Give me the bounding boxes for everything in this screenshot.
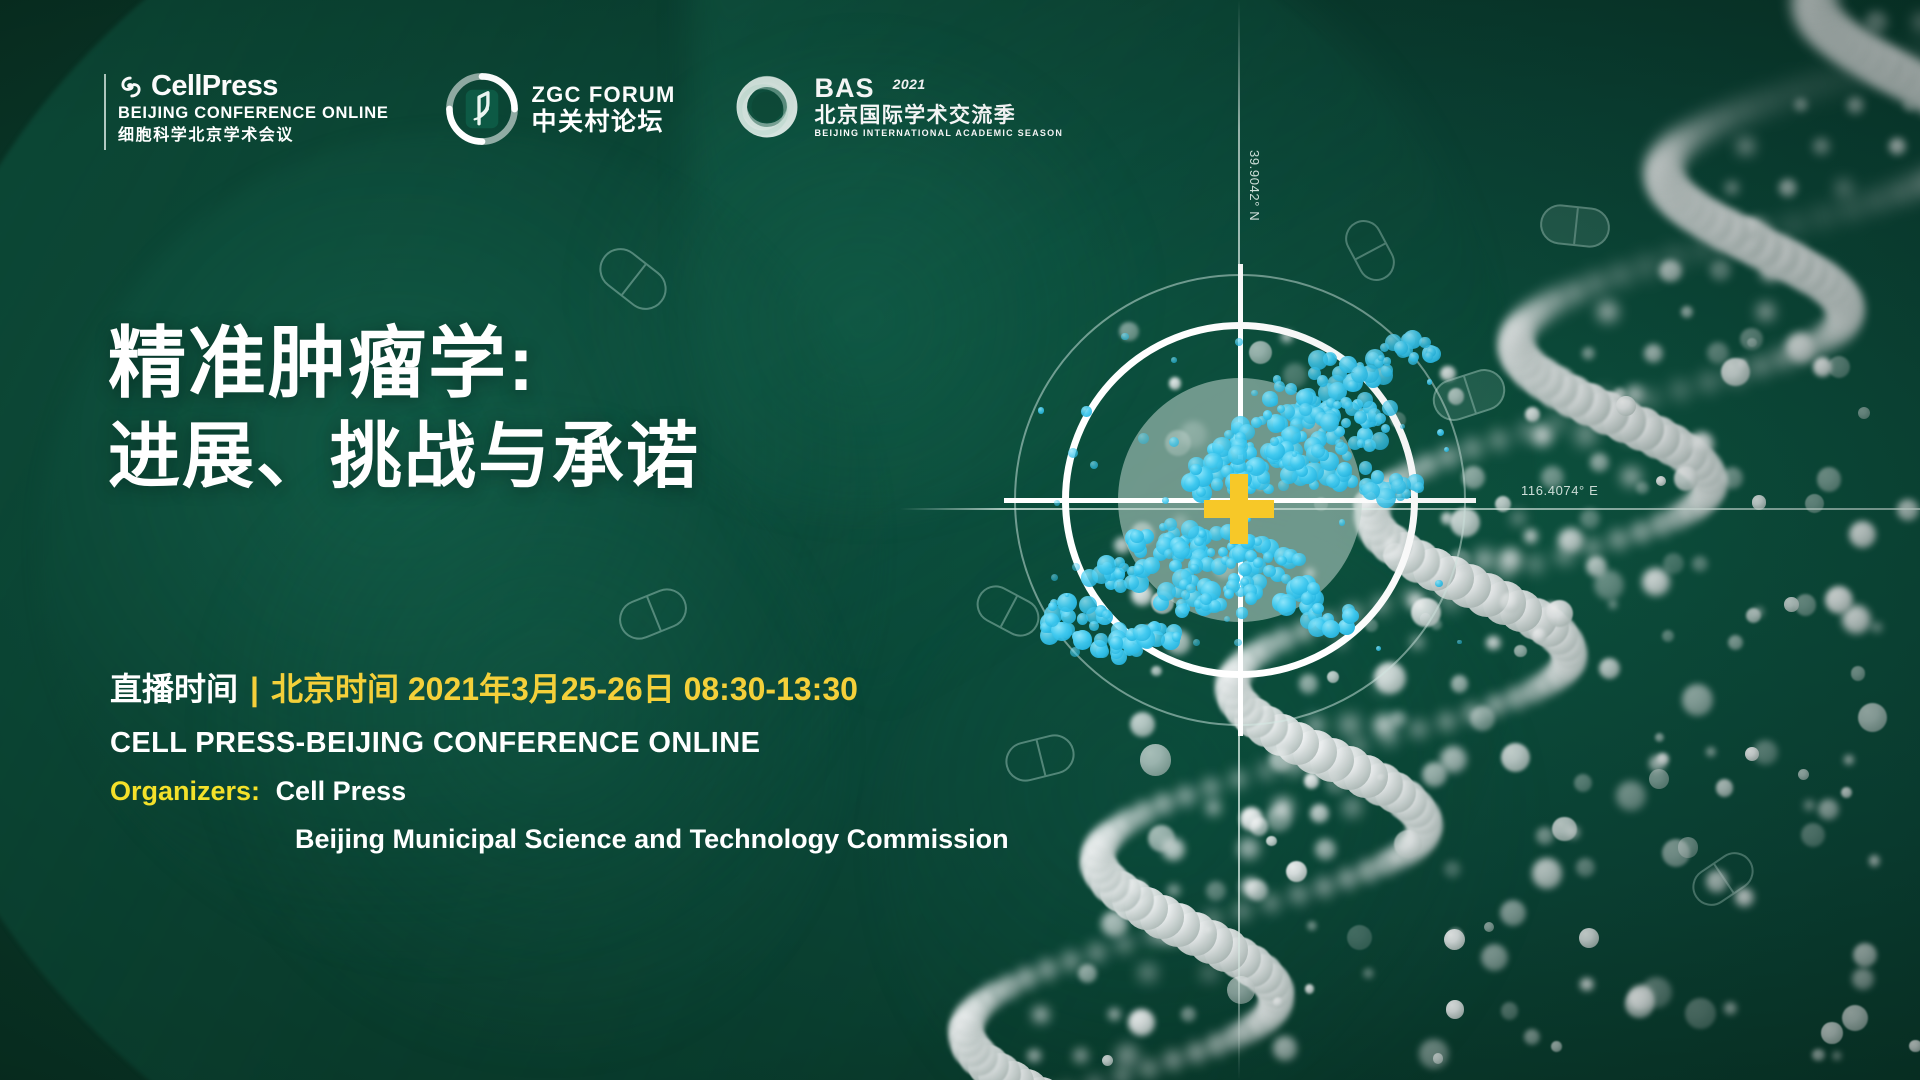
headline-line-1: 精准肿瘤学:: [108, 318, 700, 408]
yellow-plus-marker-icon: [1204, 474, 1274, 544]
logo-divider: [104, 74, 106, 150]
cell-press-wordmark: CellPress: [151, 72, 278, 101]
bas-name-cn: 北京国际学术交流季: [815, 104, 1064, 127]
bas-ring-badge-icon: [732, 72, 802, 142]
zgc-name-en: ZGC FORUM: [532, 84, 676, 106]
live-time-separator: |: [250, 672, 259, 707]
organizers-label: Organizers:: [110, 776, 260, 806]
live-time-value: 北京时间 2021年3月25-26日 08:30-13:30: [271, 672, 858, 707]
poster-headline: 精准肿瘤学: 进展、挑战与承诺: [108, 318, 700, 500]
latitude-label: 39.9042° N: [1247, 150, 1262, 221]
cell-press-logo: CellPress BEIJING CONFERENCE ONLINE 细胞科学…: [104, 72, 389, 150]
bas-year: 2021: [893, 77, 926, 91]
zgc-name-cn: 中关村论坛: [532, 110, 676, 135]
zgc-circular-badge-icon: [445, 72, 519, 146]
live-time-label: 直播时间: [110, 672, 238, 707]
live-time-row: 直播时间 | 北京时间 2021年3月25-26日 08:30-13:30: [110, 672, 1009, 707]
bas-logo: BAS 2021 北京国际学术交流季 BEIJING INTERNATIONAL…: [732, 72, 1064, 142]
zgc-forum-logo: ZGC FORUM 中关村论坛: [445, 72, 676, 146]
bas-subtitle-en: BEIJING INTERNATIONAL ACADEMIC SEASON: [815, 129, 1064, 139]
organizer-secondary: Beijing Municipal Science and Technology…: [295, 824, 1009, 855]
longitude-label: 116.4074° E: [1521, 483, 1598, 498]
organizer-primary: Cell Press: [276, 776, 407, 806]
conference-poster: 39.9042° N 116.4074° E CellPress BEIJING…: [0, 0, 1920, 1080]
cell-cluster-graphic: [0, 0, 1920, 1080]
cell-press-subtitle-en: BEIJING CONFERENCE ONLINE: [118, 104, 389, 123]
headline-line-2: 进展、挑战与承诺: [108, 416, 700, 500]
bas-name-en: BAS: [815, 75, 875, 102]
cell-press-subtitle-cn: 细胞科学北京学术会议: [118, 126, 389, 145]
logo-bar: CellPress BEIJING CONFERENCE ONLINE 细胞科学…: [104, 72, 1063, 150]
organizers-row: Organizers: Cell Press: [110, 776, 1009, 807]
conference-name-en: CELL PRESS-BEIJING CONFERENCE ONLINE: [110, 727, 1009, 760]
cell-press-swirl-icon: [118, 74, 144, 100]
info-block: 直播时间 | 北京时间 2021年3月25-26日 08:30-13:30 CE…: [110, 672, 1009, 855]
